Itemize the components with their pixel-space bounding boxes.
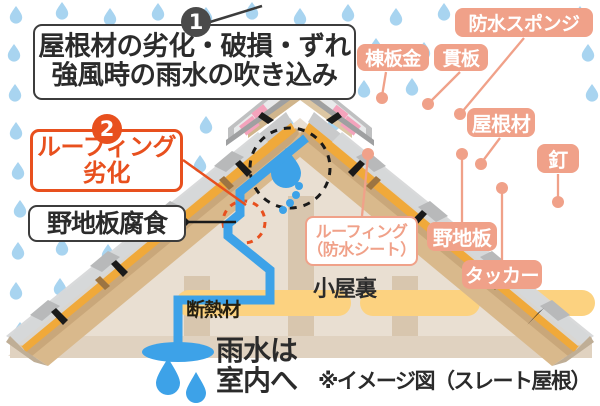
callout1-line2: 強風時の雨水の吹き込み [52, 62, 338, 91]
callout2-line2: 劣化 [83, 161, 130, 187]
label-tacker-staple: タッカー [462, 260, 542, 289]
image-disclaimer-note: ※イメージ図（スレート屋根） [318, 365, 590, 395]
label-ridge-board: 貫板 [434, 44, 488, 71]
label-attic: 小屋裏 [313, 271, 376, 303]
label-roofing-line2: （防水シート） [307, 241, 416, 259]
label-waterproof-sponge: 防水スポンジ [455, 8, 593, 37]
label-ridge-cap: 棟板金 [357, 44, 429, 71]
callout-badge-1: 1 [181, 7, 211, 37]
label-roofing-material: 屋根材 [467, 108, 535, 137]
callout-badge-2: 2 [92, 114, 122, 144]
label-insulation: 断熱材 [186, 295, 240, 322]
label-water-to-interior: 雨水は 室内へ [216, 336, 297, 396]
callout3-line1: 野地板腐食 [47, 210, 167, 237]
roof-leak-diagram: 屋根材の劣化・破損・ずれ 強風時の雨水の吹き込み 1 ルーフィング 劣化 2 野… [0, 0, 600, 406]
water-to-interior-line2: 室内へ [216, 366, 297, 396]
label-roofing-line1: ルーフィング [316, 223, 408, 241]
label-nail: 釘 [537, 144, 579, 173]
ceiling-beam [10, 336, 592, 358]
callout1-line1: 屋根材の劣化・破損・ずれ [39, 33, 351, 62]
label-roofing-sheet: ルーフィング （防水シート） [305, 216, 418, 266]
callout-deck-rot: 野地板腐食 [28, 205, 186, 242]
label-roof-decking: 野地板 [427, 222, 497, 251]
water-to-interior-line1: 雨水は [216, 336, 297, 366]
